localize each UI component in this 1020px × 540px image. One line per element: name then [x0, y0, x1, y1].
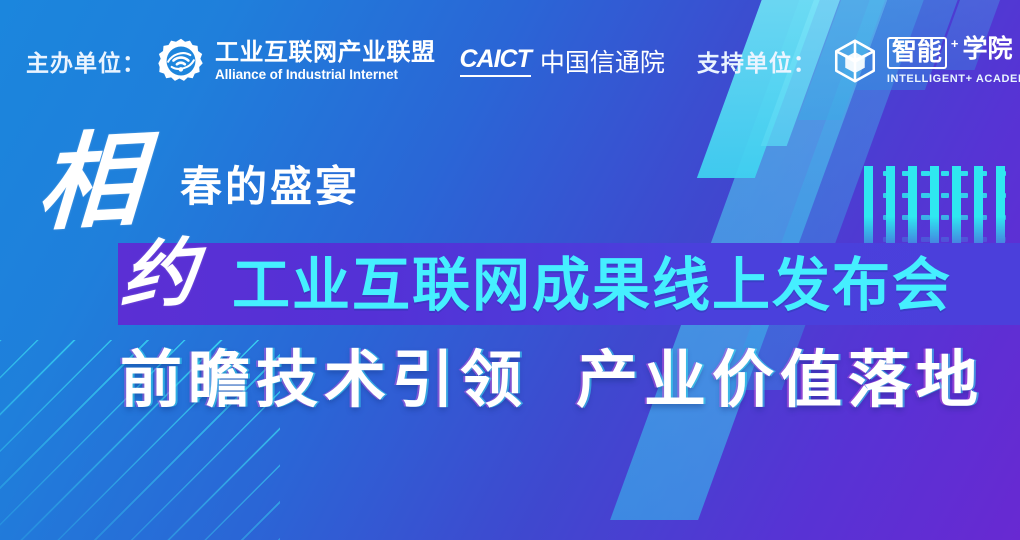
- tagline-right: 产业价值落地: [576, 350, 984, 412]
- brush-character-xiang: 相: [35, 127, 145, 236]
- supporter-label: 支持单位：: [697, 44, 817, 78]
- iacad-name-cn: 智能 + 学院: [887, 37, 1020, 68]
- iacad-name-cn-part1: 智能: [887, 37, 947, 68]
- aii-logo-text: 工业互联网产业联盟 Alliance of Industrial Interne…: [215, 41, 436, 82]
- gear-wifi-icon: [156, 36, 206, 86]
- iacad-name-en: INTELLIGENT+ ACADEMY: [887, 74, 1020, 85]
- caict-logo: CAICT 中国信通院: [460, 43, 665, 79]
- caict-name-cn: 中国信通院: [540, 43, 665, 79]
- brush-character-yue: 约: [118, 236, 199, 315]
- cube-icon: [831, 37, 879, 85]
- iacad-name-cn-part2: 学院: [963, 37, 1013, 62]
- main-title: 工业互联网成果线上发布会: [232, 252, 952, 320]
- sponsor-bar: 主办单位： 工业互联网产业联盟 Alliance of Industrial I…: [26, 30, 1004, 92]
- iacad-plus-sign: +: [951, 37, 959, 50]
- organizer-label: 主办单位：: [26, 44, 146, 78]
- aii-name-cn: 工业互联网产业联盟: [215, 41, 436, 65]
- intelligent-academy-logo: 智能 + 学院 INTELLIGENT+ ACADEMY: [887, 37, 1020, 84]
- caict-mark: CAICT: [460, 45, 531, 77]
- kicker-text: 春的盛宴: [180, 166, 360, 208]
- tagline-left: 前瞻技术引领: [120, 350, 528, 412]
- aii-name-en: Alliance of Industrial Internet: [215, 68, 436, 82]
- promo-poster: 主办单位： 工业互联网产业联盟 Alliance of Industrial I…: [0, 0, 1020, 540]
- tagline: 前瞻技术引领 产业价值落地: [120, 350, 984, 412]
